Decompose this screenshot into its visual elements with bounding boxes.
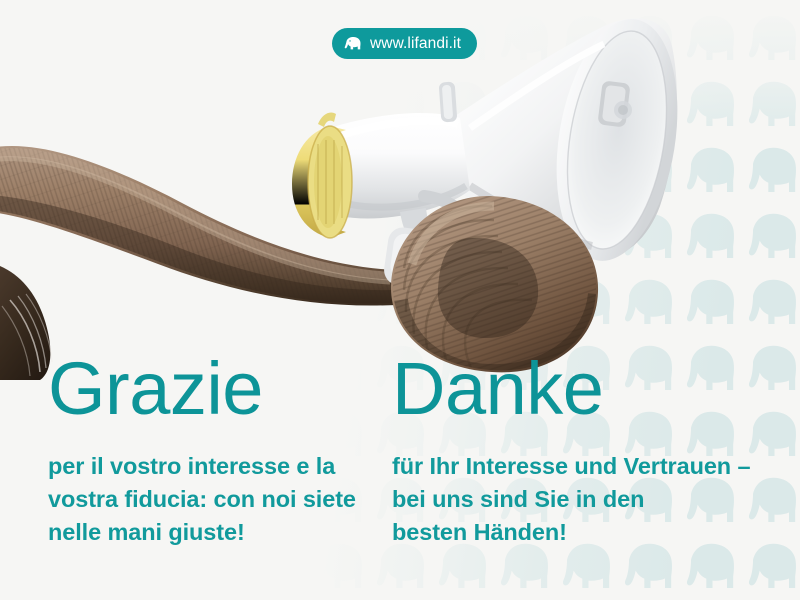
poster-canvas: www.lifandi.it Grazie per il vostro inte… <box>0 0 800 600</box>
italian-body-line-2: vostra fiducia: con noi siete <box>48 483 378 516</box>
url-badge-text: www.lifandi.it <box>370 36 461 52</box>
elephant-icon <box>344 36 363 51</box>
german-body: für Ihr Interesse und Vertrauen – bei un… <box>392 450 762 549</box>
italian-body-line-1: per il vostro interesse e la <box>48 450 378 483</box>
megaphone-top-stub <box>439 81 458 122</box>
german-body-line-1: für Ihr Interesse und Vertrauen – <box>392 450 762 483</box>
megaphone-side-button <box>597 80 632 127</box>
german-column: Danke für Ihr Interesse und Vertrauen – … <box>392 352 762 549</box>
italian-headline: Grazie <box>48 352 378 426</box>
german-body-line-3: besten Händen! <box>392 516 762 549</box>
megaphone-bell <box>541 10 694 269</box>
url-badge[interactable]: www.lifandi.it <box>332 28 477 59</box>
watermark-top-fade <box>0 0 800 150</box>
megaphone-yellow-ring <box>292 112 352 238</box>
elephant-trunk <box>0 120 460 340</box>
german-body-line-2: bei uns sind Sie in den <box>392 483 762 516</box>
german-headline: Danke <box>392 352 762 426</box>
megaphone-handle <box>382 196 474 289</box>
italian-body-line-3: nelle mani giuste! <box>48 516 378 549</box>
italian-column: Grazie per il vostro interesse e la vost… <box>48 352 378 549</box>
italian-body: per il vostro interesse e la vostra fidu… <box>48 450 378 549</box>
elephant-tail-tuft <box>0 262 52 380</box>
